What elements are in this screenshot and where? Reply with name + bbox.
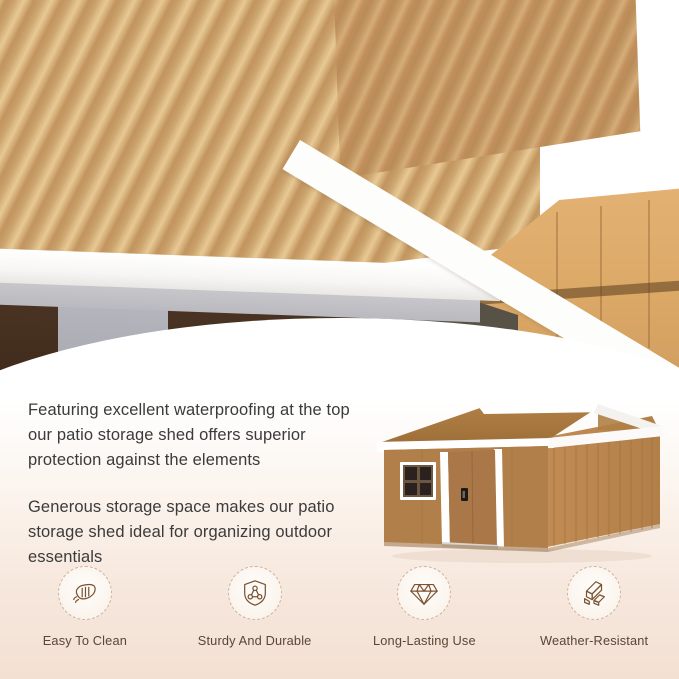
feature-icon-circle <box>567 566 621 620</box>
shed-ground-shadow <box>392 549 652 563</box>
copy-paragraph-1: Featuring excellent waterproofing at the… <box>28 398 373 473</box>
feature-weather-resistant[interactable]: Weather-Resistant <box>509 566 679 648</box>
feature-highlights-row: Easy To Clean Sturdy And Durable <box>0 566 679 648</box>
feature-label: Sturdy And Durable <box>198 633 312 648</box>
hero-photo-shed-roof-closeup <box>0 0 679 390</box>
shed-illustration <box>362 396 670 571</box>
feature-icon-circle <box>228 566 282 620</box>
feature-label: Weather-Resistant <box>540 633 648 648</box>
hand-wiping-cloth-icon <box>70 578 100 608</box>
feature-icon-circle <box>58 566 112 620</box>
gable-panel-seam <box>648 200 650 348</box>
marketing-copy-block: Featuring excellent waterproofing at the… <box>28 398 373 592</box>
shed-door-handle-latch <box>463 491 466 498</box>
photo-mask-fill <box>0 380 679 390</box>
shed-window-pane <box>420 467 431 480</box>
feature-label: Long-Lasting Use <box>373 633 476 648</box>
product-marketing-page: Featuring excellent waterproofing at the… <box>0 0 679 679</box>
copy-paragraph-2: Generous storage space makes our patio s… <box>28 495 373 570</box>
roof-corrugated-panel-right <box>330 0 640 179</box>
feature-sturdy-and-durable[interactable]: Sturdy And Durable <box>170 566 340 648</box>
shed-window-pane <box>405 467 417 480</box>
feature-label: Easy To Clean <box>43 633 127 648</box>
feature-long-lasting-use[interactable]: Long-Lasting Use <box>340 566 510 648</box>
feature-easy-to-clean[interactable]: Easy To Clean <box>0 566 170 648</box>
diamond-icon <box>409 579 439 607</box>
shield-molecule-icon <box>241 578 269 608</box>
shed-window-pane <box>420 483 431 495</box>
shed-window-pane <box>405 483 417 495</box>
feature-icon-circle <box>397 566 451 620</box>
stacked-planks-icon <box>579 578 609 608</box>
product-image-storage-shed <box>362 396 670 571</box>
